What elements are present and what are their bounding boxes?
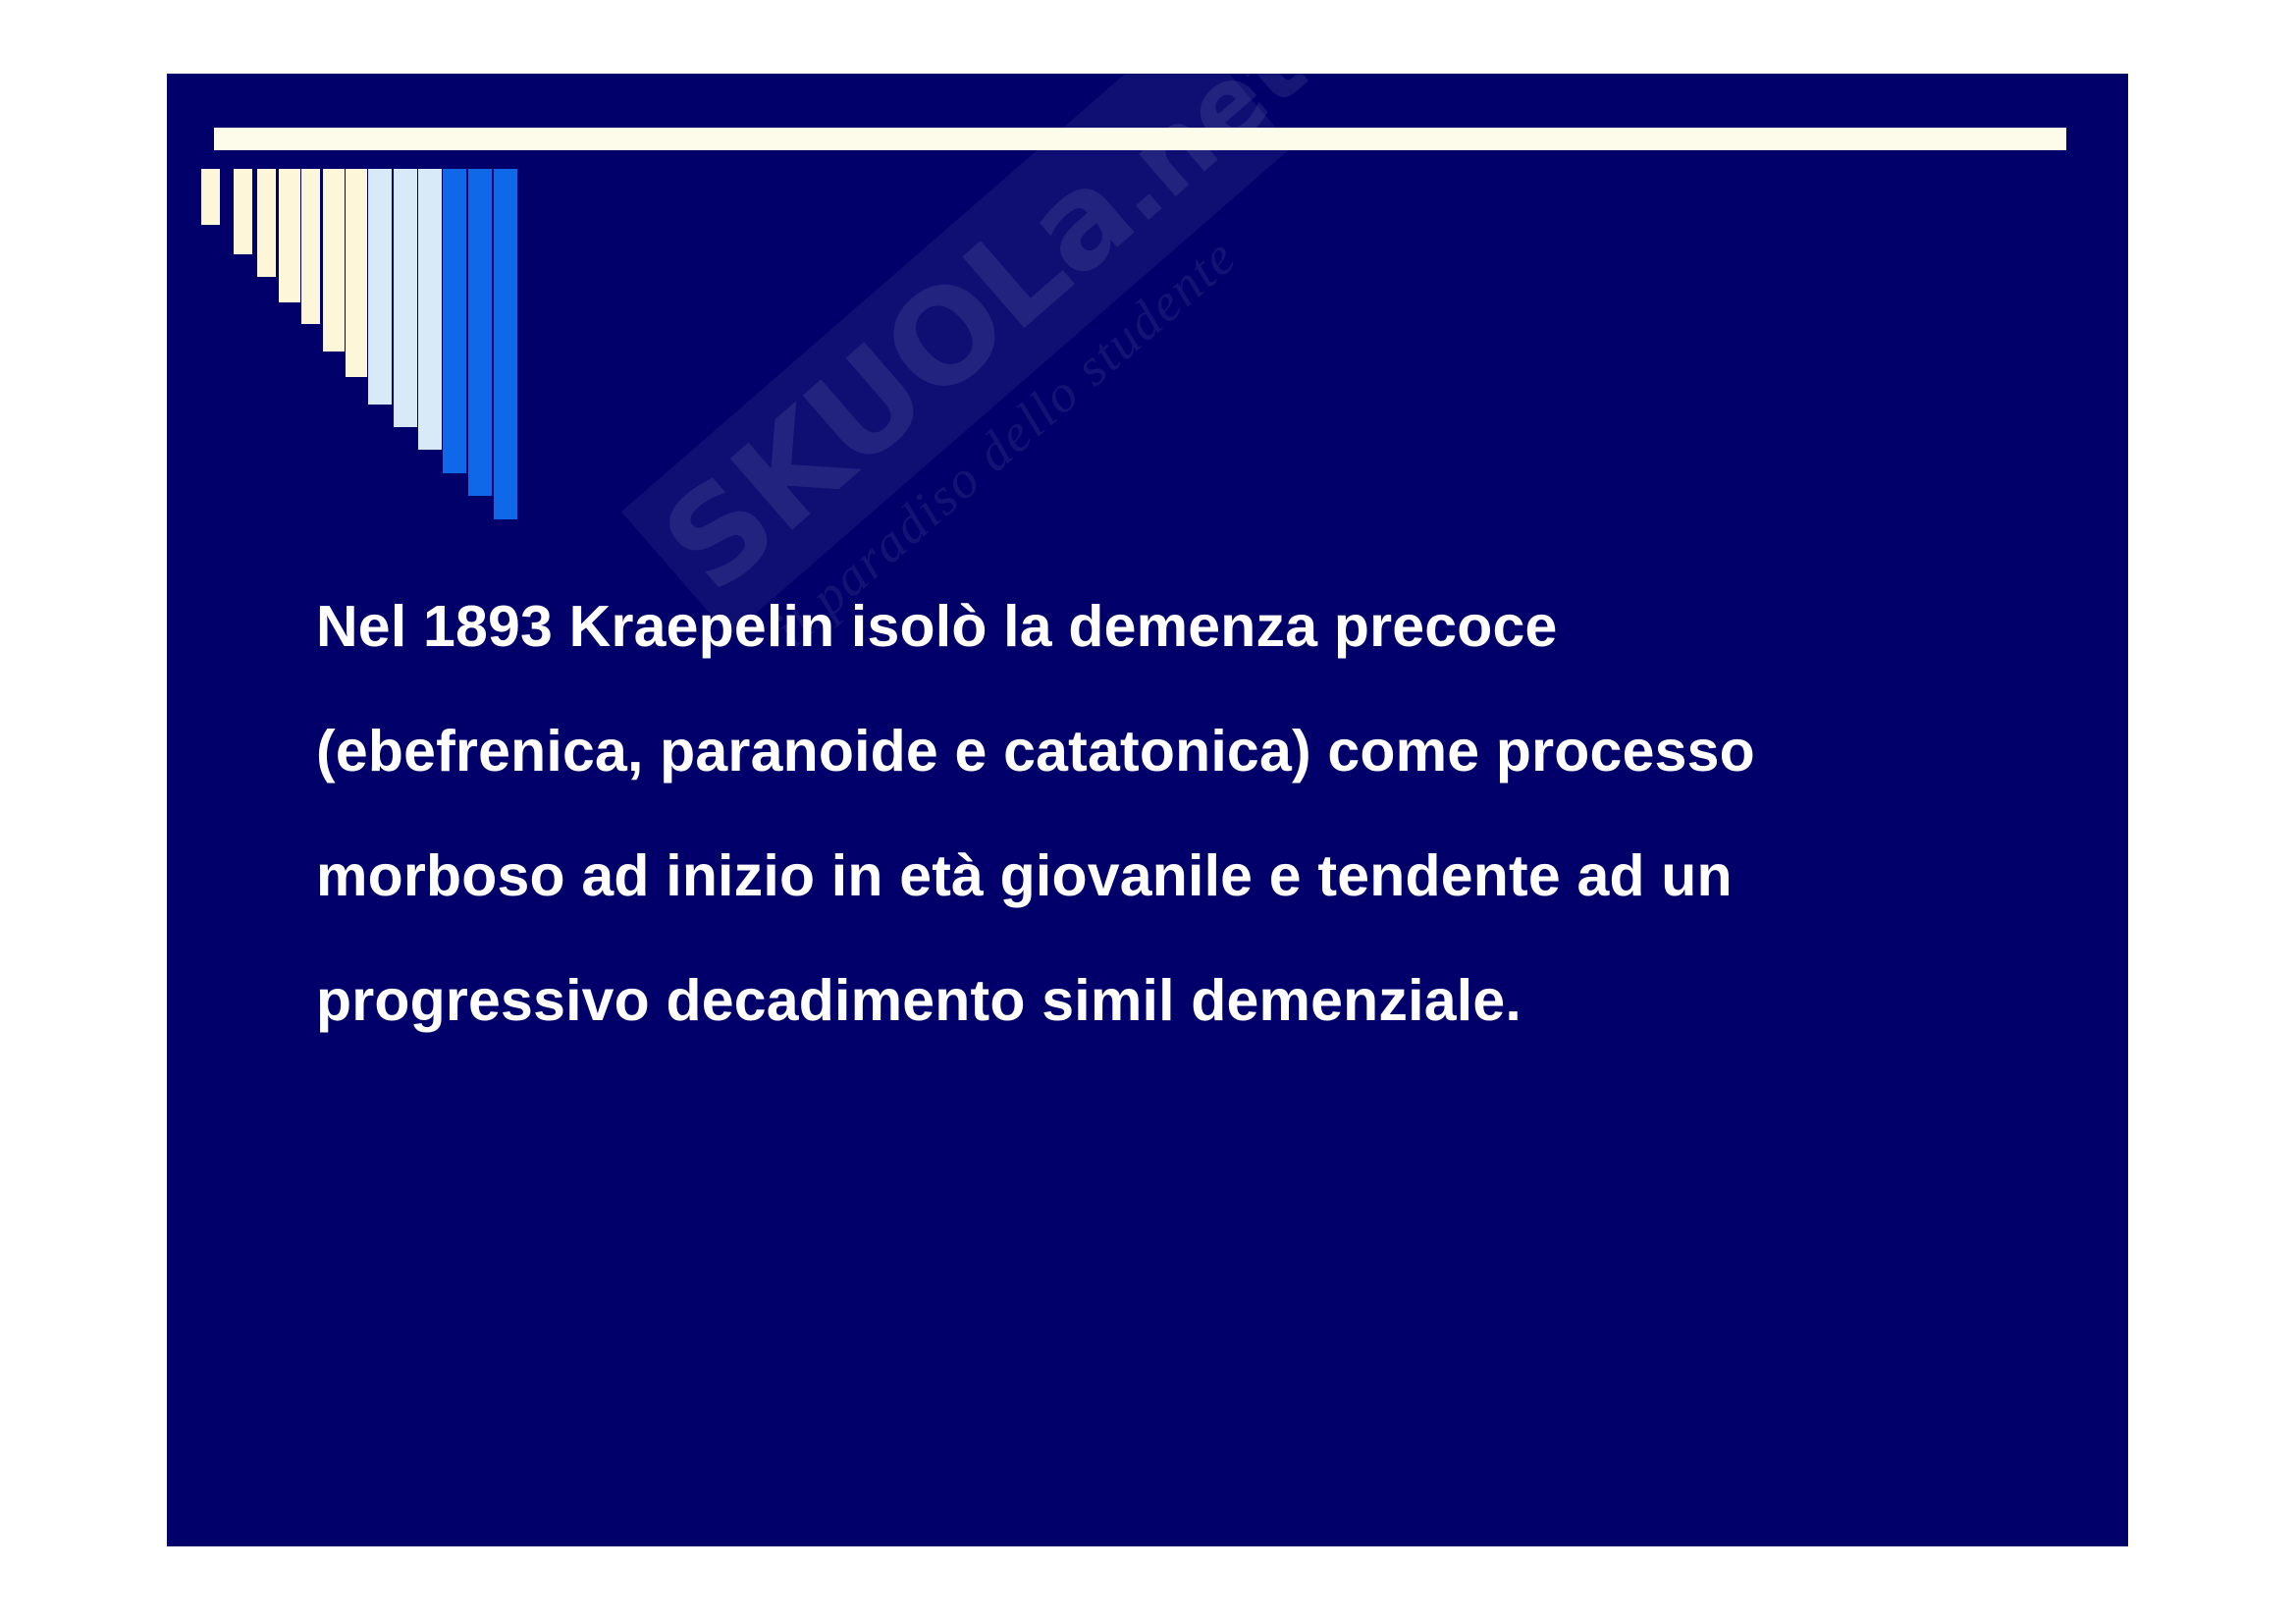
decorative-bar-group bbox=[201, 169, 525, 493]
decorative-bar bbox=[234, 169, 252, 254]
decorative-bar bbox=[494, 169, 517, 519]
decorative-bar bbox=[346, 169, 367, 377]
decorative-bar bbox=[394, 169, 417, 427]
decorative-bar bbox=[201, 169, 220, 225]
decorative-bar bbox=[368, 169, 392, 405]
decorative-bar bbox=[443, 169, 466, 473]
body-text-line: Nel 1893 Kraepelin isolò la demenza prec… bbox=[316, 565, 2044, 689]
watermark-brand-text: SKUOLa bbox=[635, 136, 1160, 622]
watermark-domain-text: .net bbox=[1078, 74, 1326, 245]
decorative-bar bbox=[301, 169, 320, 324]
watermark-band bbox=[621, 74, 1293, 636]
decorative-bar bbox=[257, 169, 276, 277]
decorative-bar bbox=[468, 169, 492, 496]
decorative-bar bbox=[323, 169, 345, 352]
body-text-line: morboso ad inizio in età giovanile e ten… bbox=[316, 814, 2044, 939]
decorative-bar bbox=[418, 169, 442, 450]
body-text-line: (ebefrenica, paranoide e catatonica) com… bbox=[316, 689, 2044, 814]
slide-panel: SKUOLa.net il paradiso dello studente Ne… bbox=[167, 74, 2128, 1546]
top-accent-rule bbox=[214, 128, 2066, 150]
slide-body-text: Nel 1893 Kraepelin isolò la demenza prec… bbox=[316, 565, 2044, 1063]
body-text-line: progressivo decadimento simil demenziale… bbox=[316, 939, 2044, 1063]
watermark-brand: SKUOLa.net bbox=[634, 74, 1305, 629]
decorative-bar bbox=[279, 169, 300, 302]
